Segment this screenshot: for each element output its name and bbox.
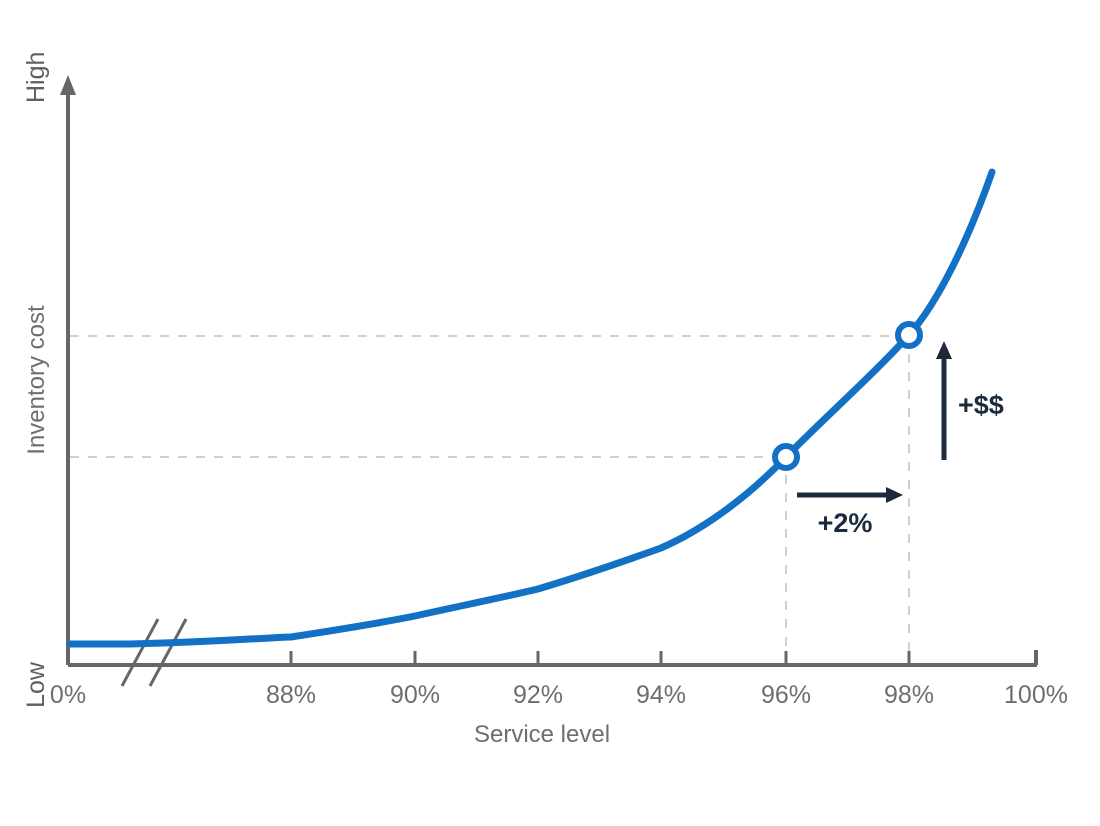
- axis-break-marker: [122, 619, 186, 686]
- y-axis: [60, 75, 76, 665]
- delta-cost-arrowhead: [936, 341, 952, 359]
- x-tick-label-88: 88%: [266, 681, 316, 709]
- delta-cost-label: +$$: [958, 390, 1004, 420]
- x-tick-label-92: 92%: [513, 681, 563, 709]
- x-axis: [68, 619, 1037, 686]
- x-tick-label-0: 0%: [50, 681, 86, 709]
- x-tick-label-94: 94%: [636, 681, 686, 709]
- curve-path: [70, 172, 992, 644]
- y-axis-arrowhead: [60, 75, 76, 95]
- marker-service-level-98[interactable]: [898, 324, 920, 346]
- chart-canvas: +2% +$$ 0% 88% 90% 92% 94% 96% 98% 100% …: [0, 0, 1100, 826]
- inventory-cost-curve: [70, 172, 992, 644]
- x-axis-ticks: [291, 651, 909, 665]
- y-axis-title: Inventory cost: [23, 305, 50, 455]
- x-tick-label-90: 90%: [390, 681, 440, 709]
- x-tick-label-98: 98%: [884, 681, 934, 709]
- marker-service-level-96[interactable]: [775, 446, 797, 468]
- annotation-service-level-delta: +2%: [797, 487, 903, 538]
- delta-pct-label: +2%: [818, 508, 873, 538]
- x-tick-labels: 0% 88% 90% 92% 94% 96% 98% 100%: [50, 681, 1068, 709]
- x-tick-label-96: 96%: [761, 681, 811, 709]
- gridlines: [70, 336, 909, 665]
- x-tick-label-100: 100%: [1004, 681, 1068, 709]
- annotation-cost-delta: +$$: [936, 341, 1004, 460]
- y-axis-low-label: Low: [22, 661, 50, 708]
- x-axis-title: Service level: [474, 721, 610, 748]
- inventory-cost-chart: +2% +$$ 0% 88% 90% 92% 94% 96% 98% 100% …: [0, 0, 1100, 826]
- y-axis-high-label: High: [22, 52, 50, 103]
- delta-pct-arrowhead: [886, 487, 903, 503]
